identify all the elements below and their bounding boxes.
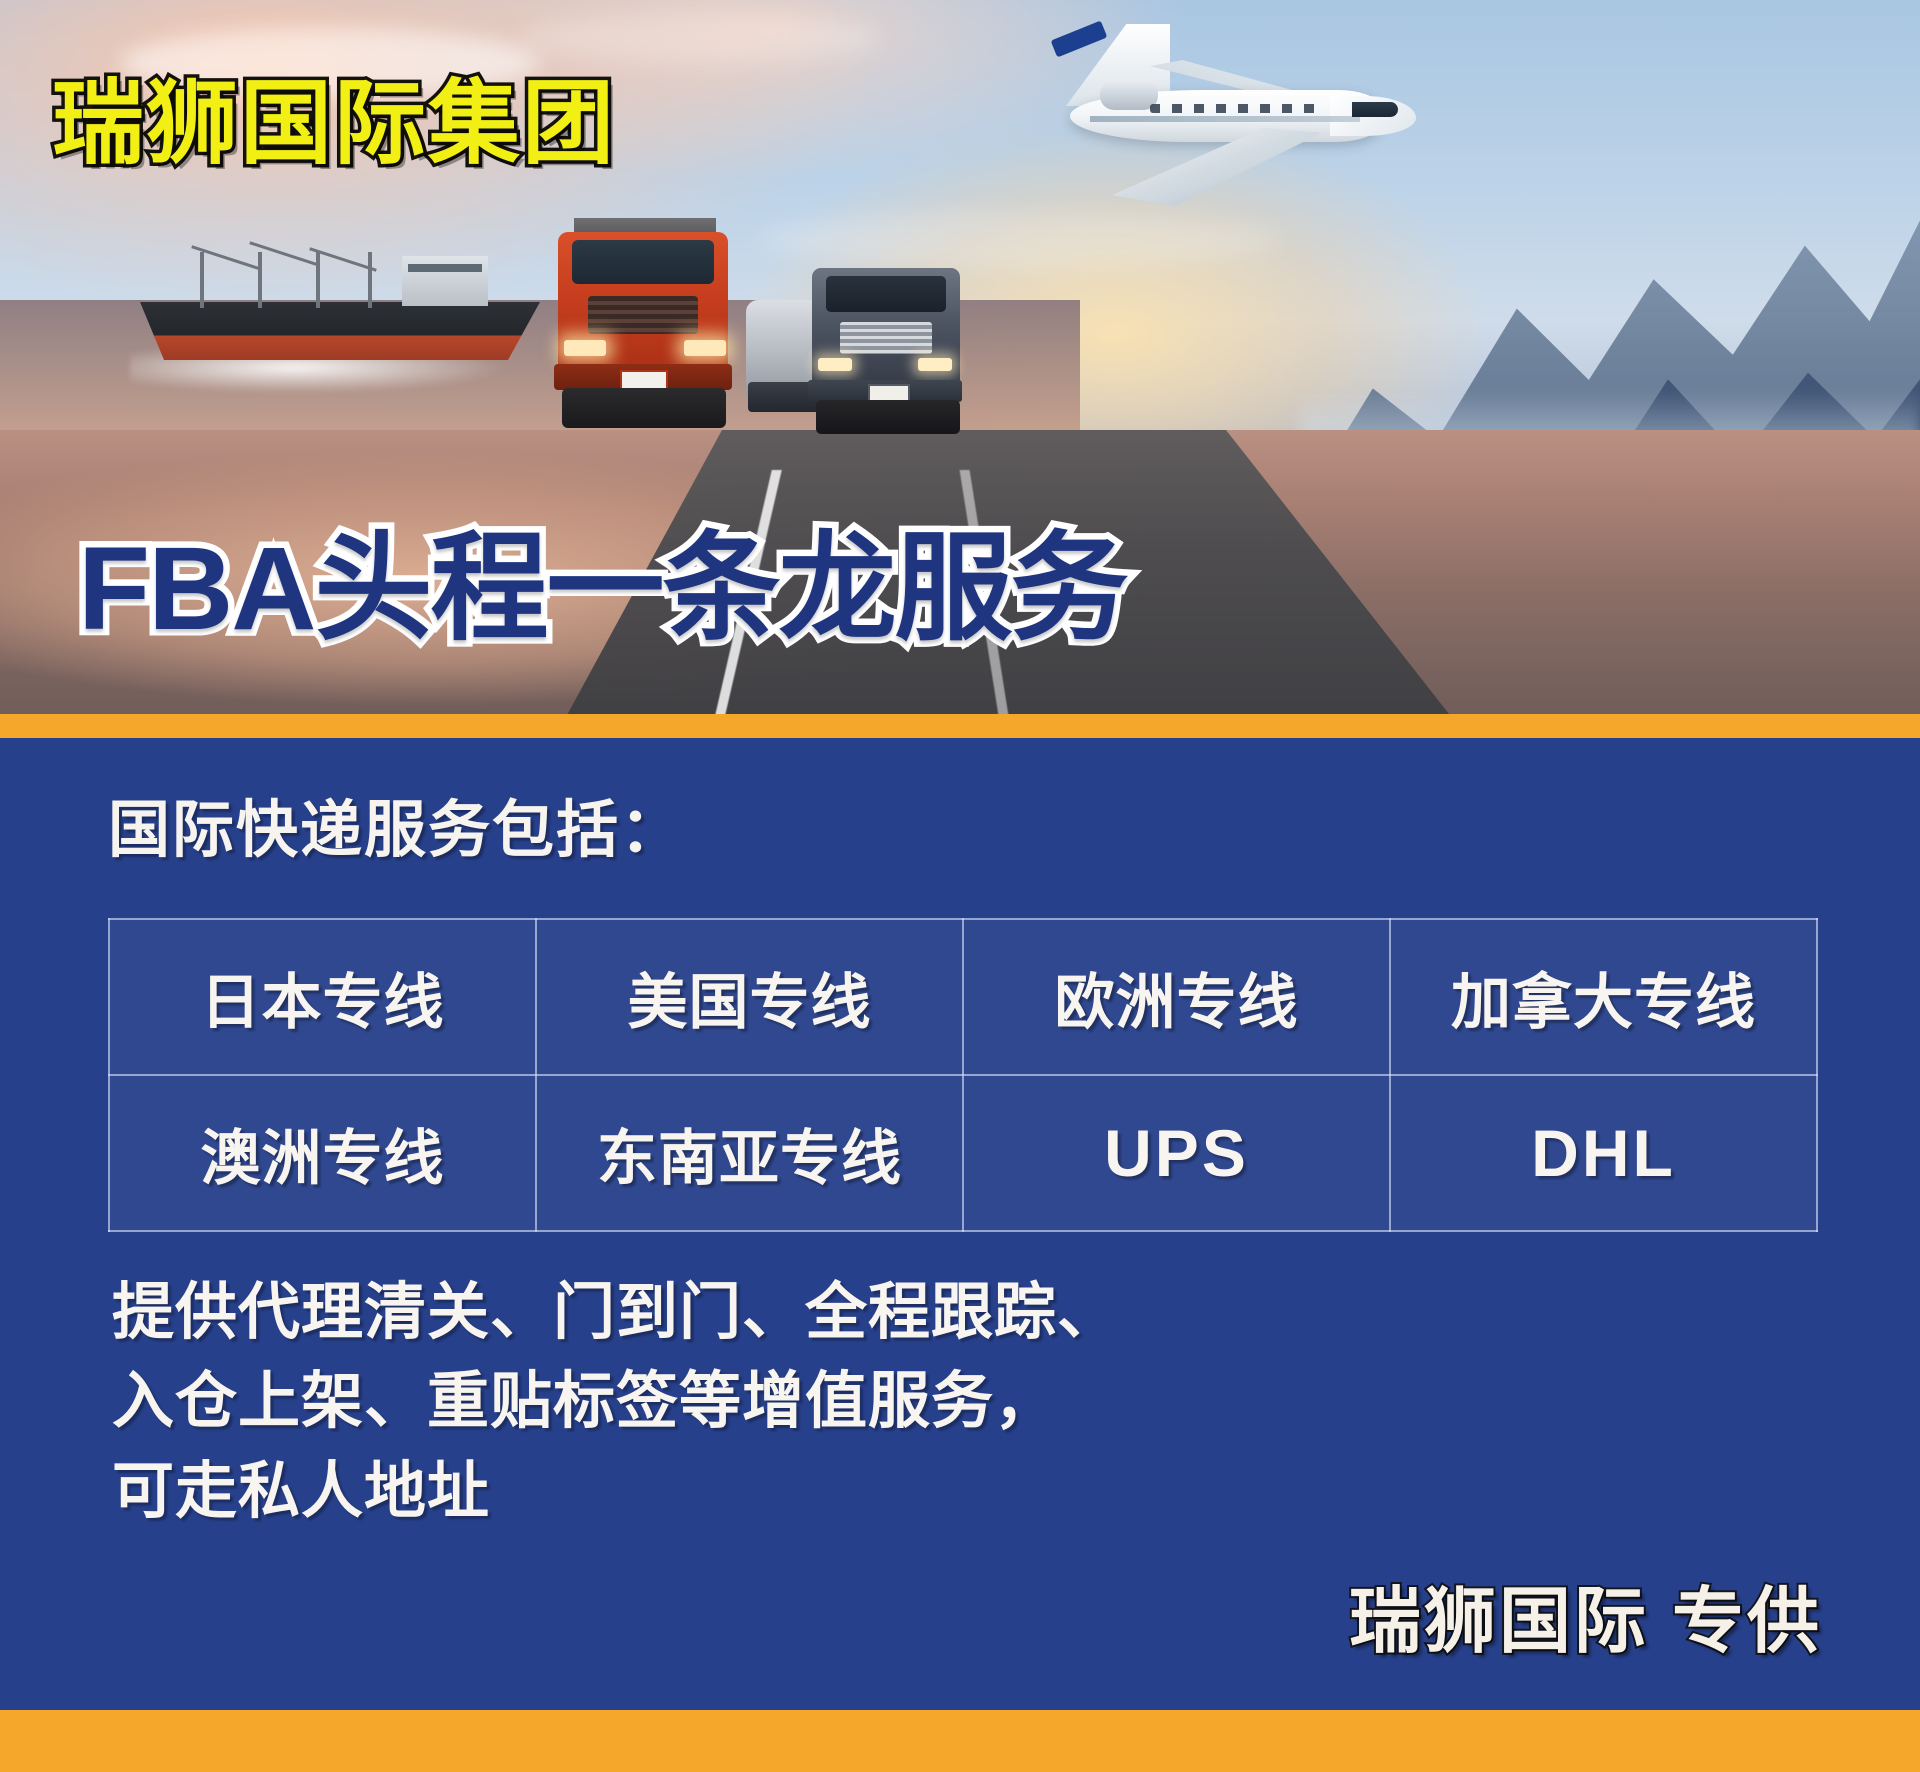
service-cell-ups[interactable]: UPS [963,1075,1390,1231]
detail-line: 提供代理清关、门到门、全程跟踪、 [112,1268,1562,1357]
table-row: 澳洲专线 东南亚专线 UPS DHL [109,1075,1817,1231]
service-cell-dhl[interactable]: DHL [1390,1075,1817,1231]
truck-wheels [816,400,960,434]
services-table: 日本专线 美国专线 欧洲专线 加拿大专线 澳洲专线 东南亚专线 UPS DHL [108,918,1818,1232]
truck-headlight [818,358,852,371]
truck-grille [840,322,932,354]
service-cell-australia[interactable]: 澳洲专线 [109,1075,536,1231]
services-heading: 国际快递服务包括： [108,800,684,862]
advertisement-banner: 瑞狮国际集团 FBA头程一条龙服务 国际快递服务包括： 日本专线 美国专线 欧洲… [0,0,1920,1772]
detail-line: 可走私人地址 [112,1447,1562,1536]
truck-headlight [564,340,606,356]
private-jet [1000,24,1420,224]
service-cell-europe[interactable]: 欧洲专线 [963,919,1390,1075]
ship-crane [368,252,372,308]
jet-tail-fin [1051,21,1108,58]
jet-windows [1150,104,1320,113]
ship-crane [258,252,262,308]
ship-superstructure [402,256,488,306]
company-logo-text: 瑞狮国际集团 [52,78,616,170]
truck-windshield [826,276,946,312]
truck-headlight [918,358,952,371]
cloud-wisp [520,12,880,64]
service-cell-usa[interactable]: 美国专线 [536,919,963,1075]
jet-cockpit-window [1352,102,1398,117]
gold-divider-bottom [0,1710,1920,1772]
cargo-ship [140,246,560,376]
gold-divider-top [0,714,1920,738]
jet-livery-stripe [1090,116,1360,122]
truck-grille [588,296,698,334]
hero-headline: FBA头程一条龙服务 [78,530,1127,648]
table-row: 日本专线 美国专线 欧洲专线 加拿大专线 [109,919,1817,1075]
value-added-services-text: 提供代理清关、门到门、全程跟踪、 入仓上架、重贴标签等增值服务， 可走私人地址 [112,1268,1562,1536]
grey-semi-truck [806,262,974,442]
service-cell-canada[interactable]: 加拿大专线 [1390,919,1817,1075]
truck-wheels [562,388,726,428]
ship-crane [200,252,204,308]
services-section: 国际快递服务包括： 日本专线 美国专线 欧洲专线 加拿大专线 澳洲专线 东南亚专… [0,738,1920,1710]
ship-crane [316,252,320,308]
truck-headlight [684,340,726,356]
ship-hull [140,302,540,360]
hero-photo-section: 瑞狮国际集团 FBA头程一条龙服务 [0,0,1920,728]
truck-license-plate [620,370,668,390]
truck-windshield [572,240,714,284]
footer-brand-text: 瑞狮国际 专供 [1349,1586,1822,1658]
detail-line: 入仓上架、重贴标签等增值服务， [112,1357,1562,1446]
red-semi-truck [548,224,744,444]
service-cell-japan[interactable]: 日本专线 [109,919,536,1075]
service-cell-southeast-asia[interactable]: 东南亚专线 [536,1075,963,1231]
